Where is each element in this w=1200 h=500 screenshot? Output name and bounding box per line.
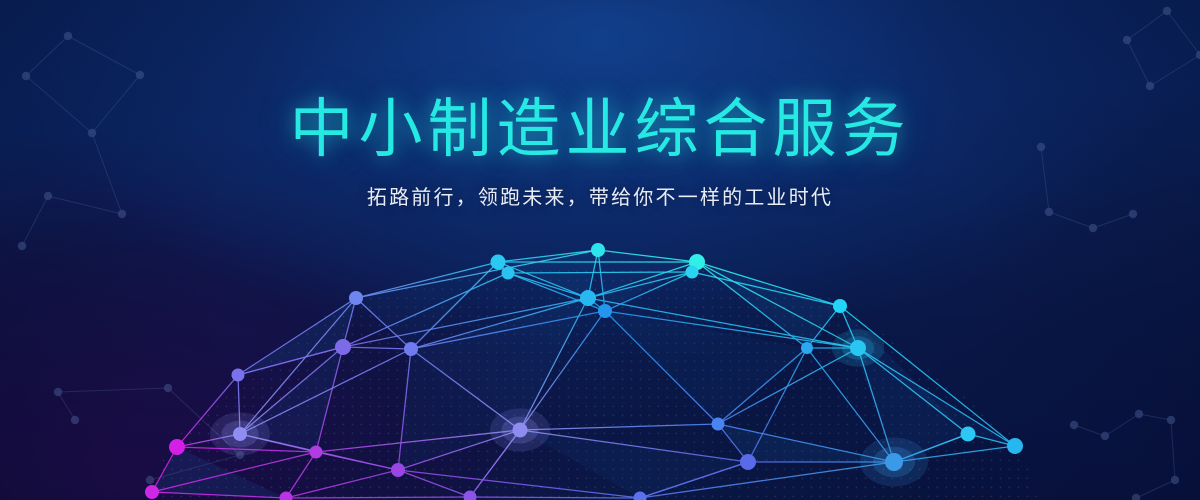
dome-node (740, 454, 756, 470)
hero-headline: 中小制造业综合服务 (0, 96, 1200, 163)
dome-node (145, 485, 159, 499)
hero-banner: 中小制造业综合服务 拓路前行，领跑未来，带给你不一样的工业时代 (0, 0, 1200, 500)
dome-node (464, 491, 477, 500)
dome-node (712, 418, 725, 431)
dome-node (233, 427, 247, 441)
dome-node (686, 266, 699, 279)
dome-node (833, 299, 847, 313)
dome-node (580, 290, 596, 306)
dome-node (634, 492, 647, 500)
dome-node (310, 446, 323, 459)
hero-text-block: 中小制造业综合服务 拓路前行，领跑未来，带给你不一样的工业时代 (0, 96, 1200, 210)
dome-node (335, 339, 351, 355)
dome-node (513, 423, 528, 438)
dome-node (1007, 438, 1023, 454)
dome-node (491, 255, 506, 270)
dome-node-layer (0, 0, 1200, 500)
dome-node (349, 291, 363, 305)
dome-node (502, 267, 515, 280)
dome-node-group (145, 243, 1023, 500)
dome-node (280, 492, 293, 500)
hero-subtitle: 拓路前行，领跑未来，带给你不一样的工业时代 (0, 181, 1200, 210)
dome-node (598, 304, 612, 318)
dome-node (801, 342, 813, 354)
dome-node (591, 243, 605, 257)
dome-node (961, 427, 976, 442)
dome-node (404, 342, 418, 356)
dome-node (885, 453, 903, 471)
dome-node (850, 340, 866, 356)
dome-node (169, 439, 185, 455)
dome-node (391, 463, 405, 477)
dome-node (232, 369, 245, 382)
